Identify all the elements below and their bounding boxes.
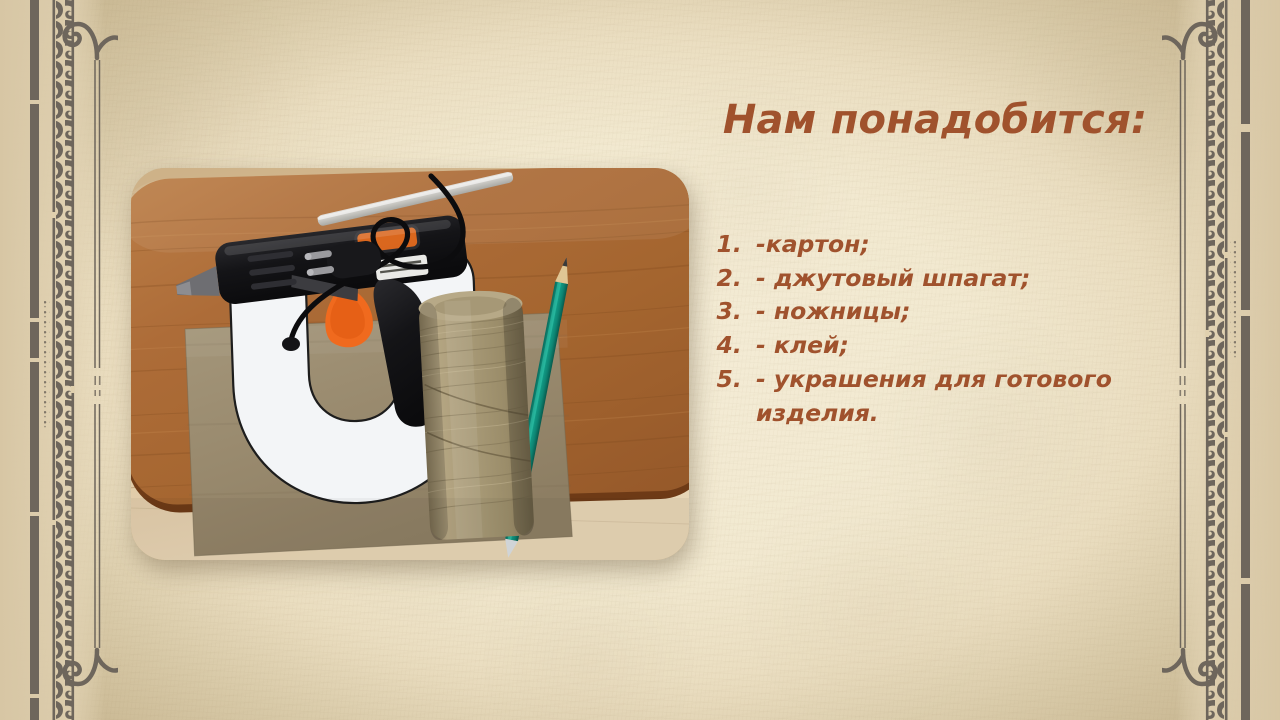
- list-item: - украшения для готового изделия.: [750, 363, 1190, 430]
- slide: Нам понадобится: -картон; - джутовый шпа…: [0, 0, 1280, 720]
- craft-materials-photo: [131, 168, 689, 560]
- materials-list: -картон; - джутовый шпагат; - ножницы; -…: [716, 228, 1190, 430]
- page-title: Нам понадобится:: [700, 98, 1170, 142]
- list-item: - джутовый шпагат;: [750, 262, 1190, 296]
- photo-inner: [131, 168, 689, 560]
- list-item: - клей;: [750, 329, 1190, 363]
- ornamental-border-left: [0, 0, 118, 720]
- list-item: -картон;: [750, 228, 1190, 262]
- list-item: - ножницы;: [750, 295, 1190, 329]
